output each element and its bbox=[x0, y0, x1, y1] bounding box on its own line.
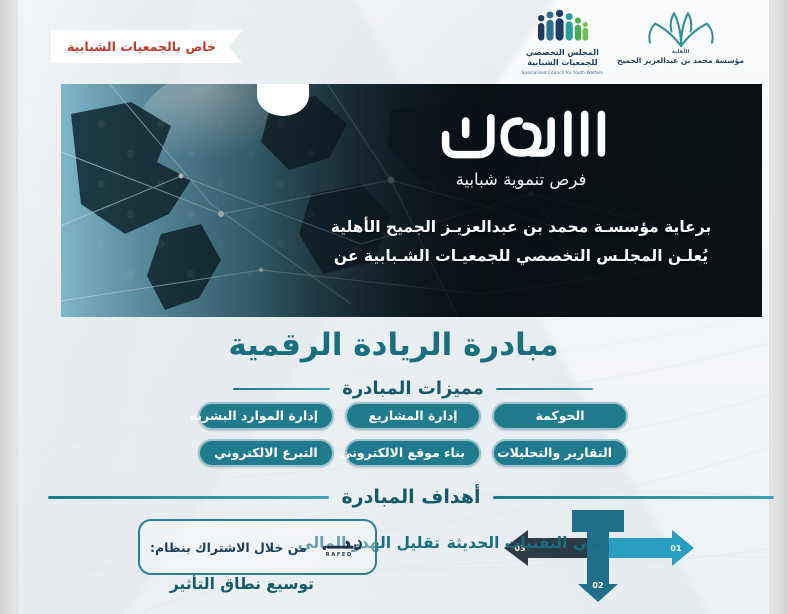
subscription-box: RAFED من خلال الاشتراك بنظام: bbox=[138, 519, 377, 575]
foundation-logo-subtext: الأهلية bbox=[617, 49, 744, 56]
ribbon-label: خاص بالجمعيات الشبابية bbox=[67, 39, 216, 54]
foundation-logo-name: مؤسسة محمد بن عبدالعزيز الجميح bbox=[617, 56, 744, 65]
council-logo-text: المجلس التخصصي للجمعيات الشبابية Special… bbox=[522, 48, 603, 75]
feature-pill[interactable]: بناء موقع الالكتروني bbox=[345, 439, 481, 467]
svg-text:02: 02 bbox=[592, 581, 603, 590]
logo-group: الأهلية مؤسسة محمد بن عبدالعزيز الجميح bbox=[522, 8, 744, 75]
features-row-2: التقارير والتحليلات بناء موقع الالكتروني… bbox=[208, 439, 618, 467]
goal-label-expand-impact: توسيع نطاق التأثير bbox=[170, 575, 314, 593]
features-pill-grid: الحوكمة إدارة المشاريع إدارة الموارد الب… bbox=[208, 402, 618, 476]
people-bars-logo-icon bbox=[534, 8, 590, 46]
council-logo: المجلس التخصصي للجمعيات الشبابية Special… bbox=[522, 8, 603, 75]
hero-line-2: يُعلـن المجلـس التخصصي للجمعيـات الشـباب… bbox=[306, 242, 736, 271]
feature-pill[interactable]: الحوكمة bbox=[492, 402, 628, 430]
goal-label-adopt-technology: تبني التقنيات الحديثة bbox=[447, 534, 607, 552]
feature-pill[interactable]: إدارة المشاريع bbox=[345, 402, 481, 430]
feature-pill[interactable]: التقارير والتحليلات bbox=[492, 439, 628, 467]
hero-announcement: برعاية مؤسسـة محمد بن عبدالعزيـز الجميح … bbox=[306, 213, 736, 270]
goals-section-heading: أهداف المبادرة bbox=[48, 486, 774, 508]
heading-rule-right bbox=[496, 388, 593, 390]
subscription-note: من خلال الاشتراك بنظام: bbox=[150, 540, 307, 555]
council-logo-english: Specialized Council for Youth Welfare bbox=[522, 70, 603, 75]
foundation-logo-text: الأهلية مؤسسة محمد بن عبدالعزيز الجميح bbox=[617, 49, 744, 65]
hero-content: فرص تنموية شبابية برعاية مؤسسـة محمد بن … bbox=[306, 98, 736, 270]
rafed-logo-icon: RAFED bbox=[315, 526, 365, 568]
hero-brand-block: فرص تنموية شبابية bbox=[306, 106, 736, 189]
youth-associations-ribbon: خاص بالجمعيات الشبابية bbox=[51, 30, 242, 63]
hero-line-1: برعاية مؤسسـة محمد بن عبدالعزيـز الجميح … bbox=[306, 213, 736, 242]
alahl-brand-icon bbox=[428, 106, 614, 168]
svg-text:RAFED: RAFED bbox=[325, 552, 352, 558]
goals-heading-label: أهداف المبادرة bbox=[341, 486, 480, 508]
page-edge-right bbox=[769, 0, 787, 614]
page-edge-left bbox=[0, 0, 18, 614]
svg-text:01: 01 bbox=[670, 544, 682, 553]
goals-arrow-diagram-icon: 01 02 03 bbox=[488, 508, 708, 604]
features-row-1: الحوكمة إدارة المشاريع إدارة الموارد الب… bbox=[208, 402, 618, 430]
palm-leaf-logo-icon bbox=[638, 8, 724, 48]
features-section-heading: مميزات المبادرة bbox=[233, 378, 593, 399]
features-heading-label: مميزات المبادرة bbox=[342, 378, 484, 399]
feature-pill[interactable]: التبرع الالكتروني bbox=[198, 439, 334, 467]
council-logo-line-2: للجمعيات الشبابية bbox=[527, 58, 597, 67]
heading-rule-left bbox=[233, 388, 330, 390]
foundation-logo: الأهلية مؤسسة محمد بن عبدالعزيز الجميح bbox=[617, 8, 744, 65]
hero-tagline: فرص تنموية شبابية bbox=[456, 170, 587, 189]
council-logo-line-1: المجلس التخصصي bbox=[526, 48, 599, 57]
goals-diagram: 01 02 03 تبني التقنيات الحديثة تقليل اله… bbox=[18, 508, 769, 608]
poster-root: خاص بالجمعيات الشبابية bbox=[0, 0, 787, 614]
page-title: مبادرة الريادة الرقمية bbox=[18, 327, 769, 363]
hero-banner: فرص تنموية شبابية برعاية مؤسسـة محمد بن … bbox=[61, 84, 762, 317]
poster-sheet: خاص بالجمعيات الشبابية bbox=[18, 0, 769, 614]
feature-pill[interactable]: إدارة الموارد البشرية bbox=[198, 402, 334, 430]
goals-rule-right bbox=[493, 496, 774, 499]
goals-rule-left bbox=[48, 496, 329, 499]
